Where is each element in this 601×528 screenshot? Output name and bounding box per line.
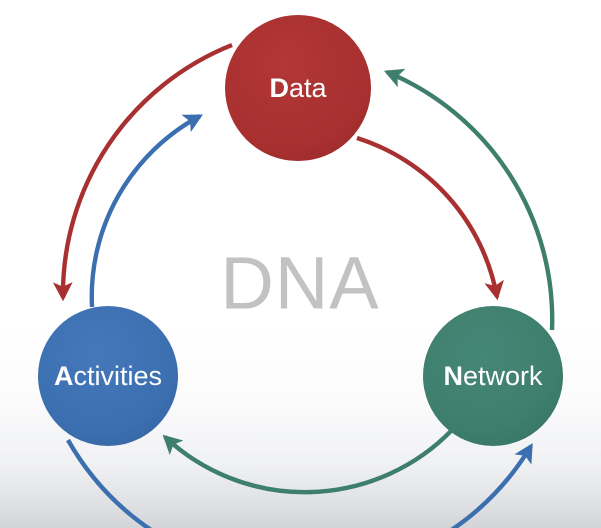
node-network[interactable]: Network	[423, 306, 563, 446]
node-network-rest: etwork	[463, 361, 543, 391]
node-activities-rest: ctivities	[73, 361, 162, 391]
arrow-network-to-data	[387, 72, 552, 330]
node-activities-label: Activities	[54, 361, 162, 391]
center-label: DNA	[220, 242, 379, 325]
node-data-rest: ata	[289, 73, 328, 103]
diagram-canvas: DNA Data Activities Network	[0, 0, 601, 528]
node-network-initial: N	[443, 361, 463, 391]
node-data-initial: D	[269, 73, 289, 103]
dna-cycle-diagram: DNA Data Activities Network	[0, 0, 601, 528]
arrow-network-to-activities	[165, 430, 452, 492]
arrow-data-to-activities	[63, 45, 232, 298]
arrow-activities-to-network	[68, 440, 531, 528]
node-data[interactable]: Data	[225, 15, 371, 161]
node-data-label: Data	[269, 73, 327, 103]
node-network-label: Network	[443, 361, 543, 391]
node-activities[interactable]: Activities	[38, 306, 178, 446]
node-activities-initial: A	[54, 361, 74, 391]
